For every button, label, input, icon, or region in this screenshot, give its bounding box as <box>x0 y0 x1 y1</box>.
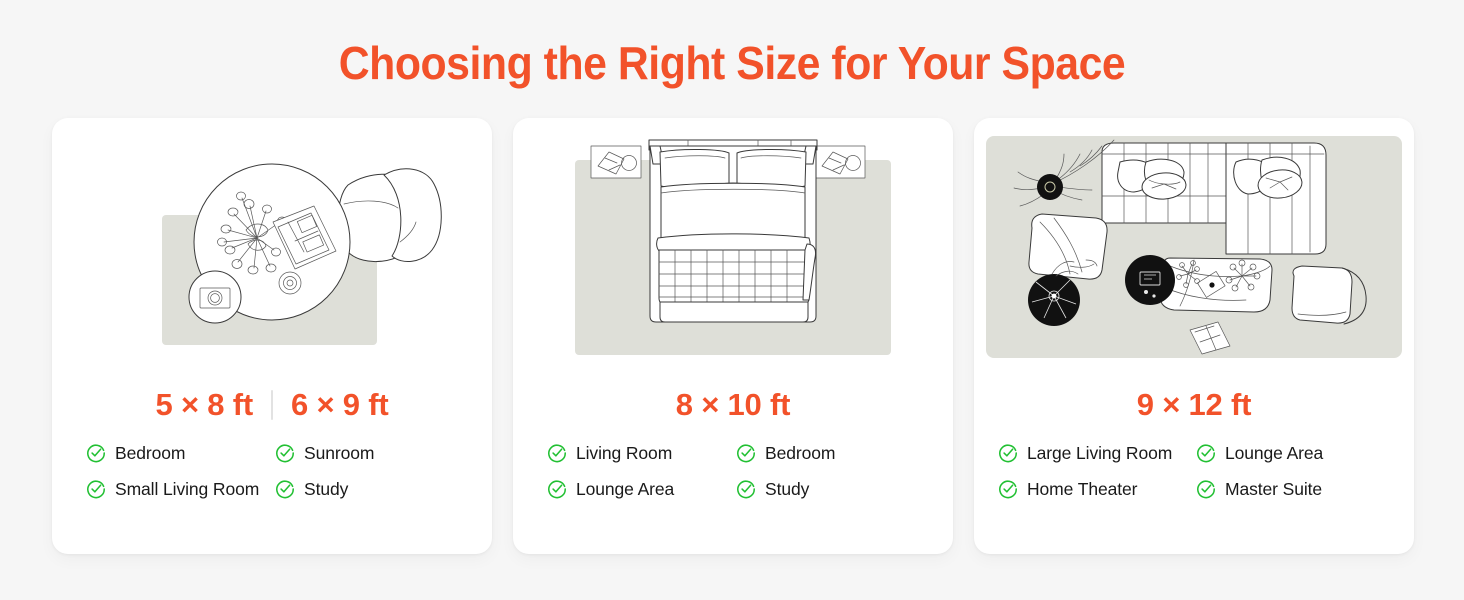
size-cards-row: 5 × 8 ft 6 × 9 ft Bedroom <box>52 118 1414 554</box>
feature-label: Small Living Room <box>115 478 259 500</box>
check-circle-icon <box>86 443 106 463</box>
size-card-small[interactable]: 5 × 8 ft 6 × 9 ft Bedroom <box>52 118 492 554</box>
feature-label: Lounge Area <box>1225 442 1323 464</box>
feature-item: Sunroom <box>275 442 458 464</box>
size-label-primary: 5 × 8 ft <box>156 387 253 423</box>
size-divider <box>271 390 273 420</box>
feature-item: Bedroom <box>86 442 269 464</box>
feature-list-medium: Living Room Bedroom Lounge Area <box>513 442 953 500</box>
size-label-primary: 9 × 12 ft <box>1137 387 1252 423</box>
feature-label: Home Theater <box>1027 478 1137 500</box>
check-circle-icon <box>547 479 567 499</box>
size-label-row-large: 9 × 12 ft <box>974 380 1414 430</box>
check-circle-icon <box>1196 479 1216 499</box>
check-circle-icon <box>86 479 106 499</box>
feature-item: Small Living Room <box>86 478 269 500</box>
page-title: Choosing the Right Size for Your Space <box>51 36 1413 90</box>
feature-item: Study <box>736 478 919 500</box>
feature-item: Home Theater <box>998 478 1192 500</box>
feature-label: Large Living Room <box>1027 442 1172 464</box>
feature-label: Sunroom <box>304 442 374 464</box>
feature-label: Study <box>304 478 348 500</box>
size-card-medium[interactable]: 8 × 10 ft Living Room Bedroom <box>513 118 953 554</box>
feature-label: Living Room <box>576 442 672 464</box>
check-circle-icon <box>998 479 1018 499</box>
check-circle-icon <box>736 479 756 499</box>
size-card-large[interactable]: 9 × 12 ft Large Living Room Lounge Area <box>974 118 1414 554</box>
illustration-large-living-room <box>974 118 1414 376</box>
feature-item: Living Room <box>547 442 730 464</box>
check-circle-icon <box>275 443 295 463</box>
rug-size-guide-page: Choosing the Right Size for Your Space <box>0 0 1464 600</box>
feature-item: Large Living Room <box>998 442 1192 464</box>
feature-label: Master Suite <box>1225 478 1322 500</box>
feature-list-small: Bedroom Sunroom Small Living Room <box>52 442 492 500</box>
check-circle-icon <box>1196 443 1216 463</box>
size-label-primary: 8 × 10 ft <box>676 387 791 423</box>
feature-item: Lounge Area <box>1196 442 1390 464</box>
feature-list-large: Large Living Room Lounge Area Home Theat… <box>974 442 1414 500</box>
feature-label: Bedroom <box>765 442 835 464</box>
feature-label: Lounge Area <box>576 478 674 500</box>
illustration-bedroom <box>513 118 953 376</box>
feature-item: Bedroom <box>736 442 919 464</box>
check-circle-icon <box>547 443 567 463</box>
feature-label: Study <box>765 478 809 500</box>
size-label-row-small: 5 × 8 ft 6 × 9 ft <box>52 380 492 430</box>
feature-item: Lounge Area <box>547 478 730 500</box>
illustration-small-room <box>52 118 492 376</box>
size-label-row-medium: 8 × 10 ft <box>513 380 953 430</box>
feature-label: Bedroom <box>115 442 185 464</box>
feature-item: Study <box>275 478 458 500</box>
check-circle-icon <box>736 443 756 463</box>
check-circle-icon <box>275 479 295 499</box>
feature-item: Master Suite <box>1196 478 1390 500</box>
size-label-secondary: 6 × 9 ft <box>291 387 388 423</box>
check-circle-icon <box>998 443 1018 463</box>
